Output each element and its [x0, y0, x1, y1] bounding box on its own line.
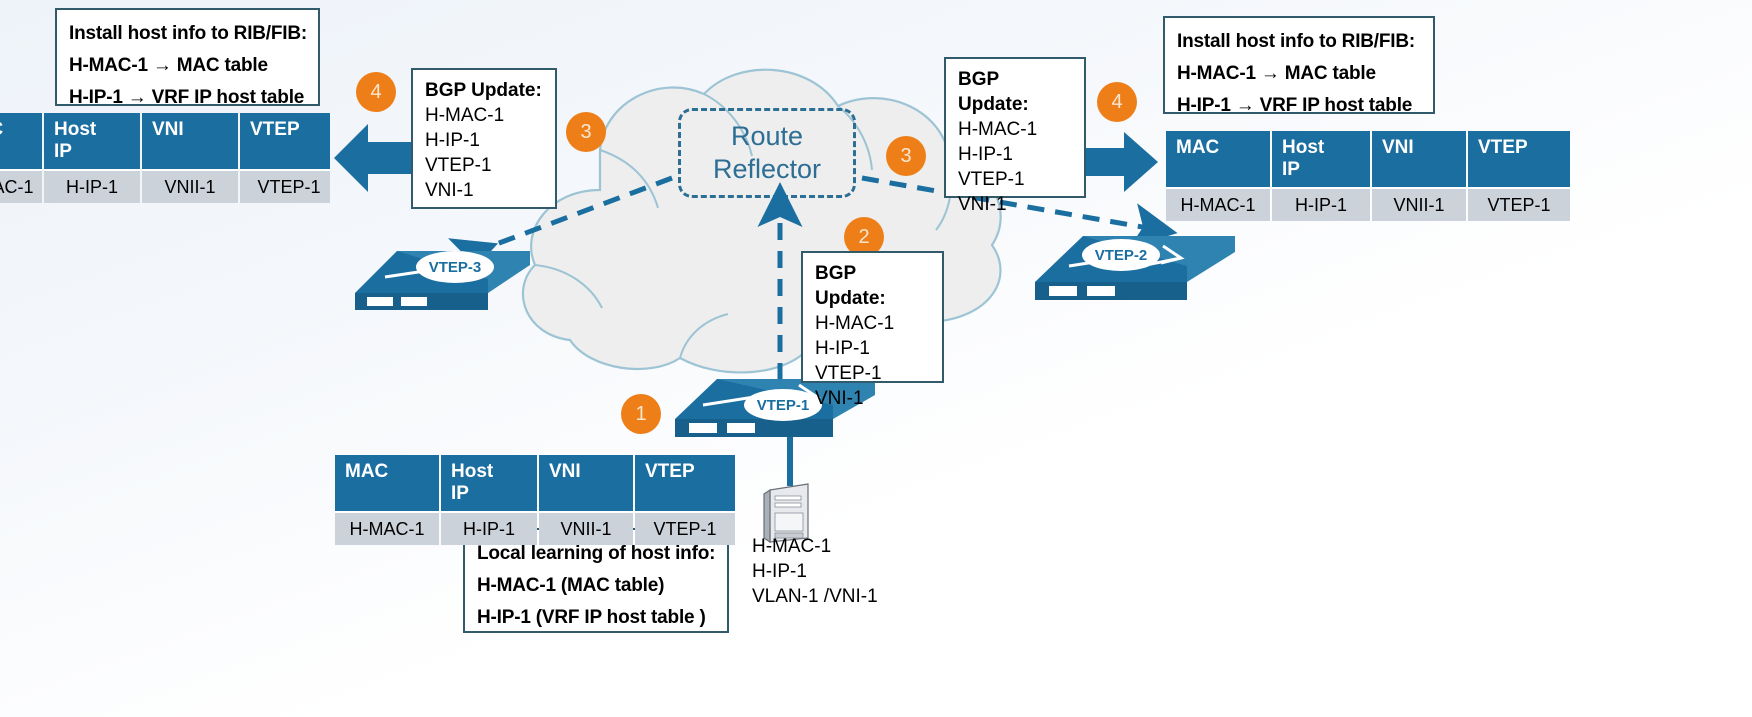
badge-step-4-left-text: 4 [370, 81, 381, 104]
table-right-th-mac: MAC [1166, 131, 1270, 187]
table-bottom-header-row: MAC Host IP VNI VTEP [335, 455, 735, 511]
callout-install-left-line2: H-MAC-1 → MAC table [69, 50, 306, 82]
badge-step-4-left: 4 [356, 72, 396, 112]
device-label-vtep-1-text: VTEP-1 [757, 397, 810, 414]
diagram-canvas: Route Reflector [0, 0, 1752, 717]
table-left-th-vtep: VTEP [240, 113, 330, 169]
table-left-data-row: H-MAC-1 H-IP-1 VNII-1 VTEP-1 [0, 169, 330, 203]
device-label-vtep-2: VTEP-2 [1083, 240, 1159, 270]
route-reflector-line2: Reflector [713, 153, 821, 186]
callout-bgp-update-left: BGP Update: H-MAC-1 H-IP-1 VTEP-1 VNI-1 [411, 68, 557, 209]
table-left-th-mac: MAC [0, 113, 42, 169]
table-right-th-vni: VNI [1372, 131, 1466, 187]
table-right-th-vtep: VTEP [1468, 131, 1570, 187]
route-reflector-line1: Route [713, 120, 821, 153]
badge-step-1: 1 [621, 394, 661, 434]
table-bottom-td-mac: H-MAC-1 [335, 511, 439, 545]
badge-step-2-text: 2 [858, 226, 869, 249]
badge-step-3-right: 3 [886, 136, 926, 176]
table-right-td-hostip: H-IP-1 [1272, 187, 1370, 221]
table-bottom-data-row: H-MAC-1 H-IP-1 VNII-1 VTEP-1 [335, 511, 735, 545]
callout-local-learning-line2: H-MAC-1 (MAC table) [477, 570, 715, 602]
callout-bgp-update-right-line-0: H-MAC-1 [958, 117, 1072, 142]
table-left-header-row: MAC Host IP VNI VTEP [0, 113, 330, 169]
table-bottom-wrapper: MAC Host IP VNI VTEP H-MAC-1 [333, 455, 727, 545]
table-left: MAC Host IP VNI VTEP H-MAC-1 [0, 113, 330, 203]
table-left-td-vni: VNII-1 [142, 169, 238, 203]
host-mac: H-MAC-1 [752, 534, 878, 559]
table-right: MAC Host IP VNI VTEP H-MAC-1 [1164, 131, 1572, 221]
device-label-vtep-2-text: VTEP-2 [1095, 247, 1148, 264]
badge-step-3-left-text: 3 [580, 121, 591, 144]
table-left-th-vni: VNI [142, 113, 238, 169]
host-ip: H-IP-1 [752, 559, 878, 584]
table-left-wrapper: MAC Host IP VNI VTEP H-MAC-1 [0, 113, 330, 203]
badge-step-3-left: 3 [566, 112, 606, 152]
callout-bgp-update-center-line-1: H-IP-1 [815, 336, 930, 361]
callout-install-right-title: Install host info to RIB/FIB: [1177, 26, 1421, 58]
callout-install-left-line3: H-IP-1 → VRF IP host table [69, 82, 306, 114]
table-right-header-row: MAC Host IP VNI VTEP [1166, 131, 1570, 187]
callout-bgp-update-right-line-3: VNI-1 [958, 192, 1072, 217]
callout-install-left: Install host info to RIB/FIB: H-MAC-1 → … [55, 8, 320, 106]
callout-bgp-update-center-title: BGP Update: [815, 261, 930, 311]
device-label-vtep-3: VTEP-3 [417, 252, 493, 282]
table-left-th-hostip: Host IP [44, 113, 140, 169]
table-bottom-th-mac: MAC [335, 455, 439, 511]
table-right-td-vni: VNII-1 [1372, 187, 1466, 221]
callout-bgp-update-right-title: BGP Update: [958, 67, 1072, 117]
callout-bgp-update-right-line-1: H-IP-1 [958, 142, 1072, 167]
table-left-td-vtep: VTEP-1 [240, 169, 330, 203]
table-right-th-hostip: Host IP [1272, 131, 1370, 187]
callout-install-right-line3: H-IP-1 → VRF IP host table [1177, 90, 1421, 122]
badge-step-4-right-text: 4 [1111, 91, 1122, 114]
callout-install-left-title: Install host info to RIB/FIB: [69, 18, 306, 50]
table-left-td-mac: H-MAC-1 [0, 169, 42, 203]
table-right-td-vtep: VTEP-1 [1468, 187, 1570, 221]
callout-bgp-update-left-line-2: VTEP-1 [425, 153, 543, 178]
table-right-wrapper: MAC Host IP VNI VTEP H-MAC-1 [1164, 131, 1562, 221]
callout-install-right: Install host info to RIB/FIB: H-MAC-1 → … [1163, 16, 1435, 114]
badge-step-3-right-text: 3 [900, 145, 911, 168]
callout-bgp-update-left-line-3: VNI-1 [425, 178, 543, 203]
table-bottom-th-vtep: VTEP [635, 455, 735, 511]
badge-step-4-right: 4 [1097, 82, 1137, 122]
device-label-vtep-3-text: VTEP-3 [429, 259, 482, 276]
callout-bgp-update-right-line-2: VTEP-1 [958, 167, 1072, 192]
route-reflector-box: Route Reflector [678, 108, 856, 198]
callout-bgp-update-center: BGP Update: H-MAC-1 H-IP-1 VTEP-1 VNI-1 [801, 251, 944, 383]
table-right-data-row: H-MAC-1 H-IP-1 VNII-1 VTEP-1 [1166, 187, 1570, 221]
block-arrow-left [334, 122, 414, 194]
table-bottom-th-vni: VNI [539, 455, 633, 511]
callout-bgp-update-center-line-2: VTEP-1 [815, 361, 930, 386]
callout-local-learning-line3: H-IP-1 (VRF IP host table ) [477, 602, 715, 634]
block-arrow-right [1078, 130, 1158, 194]
callout-bgp-update-center-line-0: H-MAC-1 [815, 311, 930, 336]
callout-bgp-update-left-title: BGP Update: [425, 78, 543, 103]
host-vlan-vni: VLAN-1 /VNI-1 [752, 584, 878, 609]
table-bottom-td-vni: VNII-1 [539, 511, 633, 545]
table-left-td-hostip: H-IP-1 [44, 169, 140, 203]
table-bottom-td-vtep: VTEP-1 [635, 511, 735, 545]
device-label-vtep-1: VTEP-1 [745, 390, 821, 420]
callout-bgp-update-left-line-0: H-MAC-1 [425, 103, 543, 128]
table-right-td-mac: H-MAC-1 [1166, 187, 1270, 221]
host-info-text: H-MAC-1 H-IP-1 VLAN-1 /VNI-1 [752, 534, 878, 609]
callout-bgp-update-center-line-3: VNI-1 [815, 386, 930, 411]
callout-bgp-update-right: BGP Update: H-MAC-1 H-IP-1 VTEP-1 VNI-1 [944, 57, 1086, 198]
callout-bgp-update-left-line-1: H-IP-1 [425, 128, 543, 153]
table-bottom: MAC Host IP VNI VTEP H-MAC-1 [333, 455, 737, 545]
callout-install-right-line2: H-MAC-1 → MAC table [1177, 58, 1421, 90]
badge-step-1-text: 1 [635, 403, 646, 426]
table-bottom-td-hostip: H-IP-1 [441, 511, 537, 545]
table-bottom-th-hostip: Host IP [441, 455, 537, 511]
